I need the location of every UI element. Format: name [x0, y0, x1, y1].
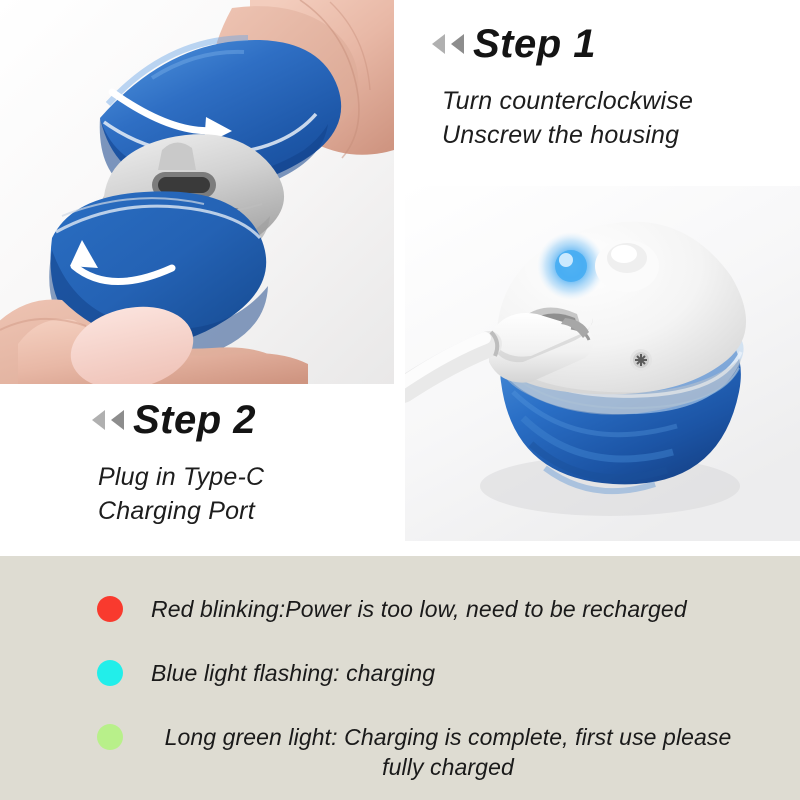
legend-item: Red blinking:Power is too low, need to b…	[95, 594, 745, 632]
green-indicator-dot	[97, 724, 123, 750]
left-triangle-icon	[92, 410, 105, 430]
step-1-heading: Step 1	[432, 22, 784, 66]
step-1-description: Turn counterclockwise Unscrew the housin…	[442, 84, 784, 152]
left-triangle-icon	[451, 34, 464, 54]
legend-item-label: Long green light: Charging is complete, …	[151, 722, 745, 782]
step-1-block: Step 1 Turn counterclockwise Unscrew the…	[432, 22, 784, 152]
blue-indicator-dot	[97, 660, 123, 686]
infographic-page: Step 1 Turn counterclockwise Unscrew the…	[0, 0, 800, 800]
legend-item-label: Blue light flashing: charging	[151, 658, 435, 688]
left-triangle-icon	[432, 34, 445, 54]
red-indicator-dot	[97, 596, 123, 622]
led-status-legend: Red blinking:Power is too low, need to b…	[0, 556, 800, 800]
steps-section: Step 1 Turn counterclockwise Unscrew the…	[0, 0, 800, 556]
legend-rows: Red blinking:Power is too low, need to b…	[95, 594, 745, 782]
step-2-heading: Step 2	[92, 398, 402, 442]
legend-item: Long green light: Charging is complete, …	[95, 722, 745, 782]
legend-item-label: Red blinking:Power is too low, need to b…	[151, 594, 687, 624]
step-2-block: Step 2 Plug in Type-C Charging Port	[92, 398, 402, 528]
step-2-description: Plug in Type-C Charging Port	[98, 460, 402, 528]
photo-charging-port	[405, 186, 800, 541]
step-1-title: Step 1	[473, 22, 596, 66]
photo-unscrew-housing	[0, 0, 394, 384]
legend-item: Blue light flashing: charging	[95, 658, 745, 696]
step-2-title: Step 2	[133, 398, 256, 442]
photo-unscrew-artwork	[0, 0, 394, 384]
left-triangle-icon	[111, 410, 124, 430]
photo-charging-artwork	[405, 186, 800, 541]
